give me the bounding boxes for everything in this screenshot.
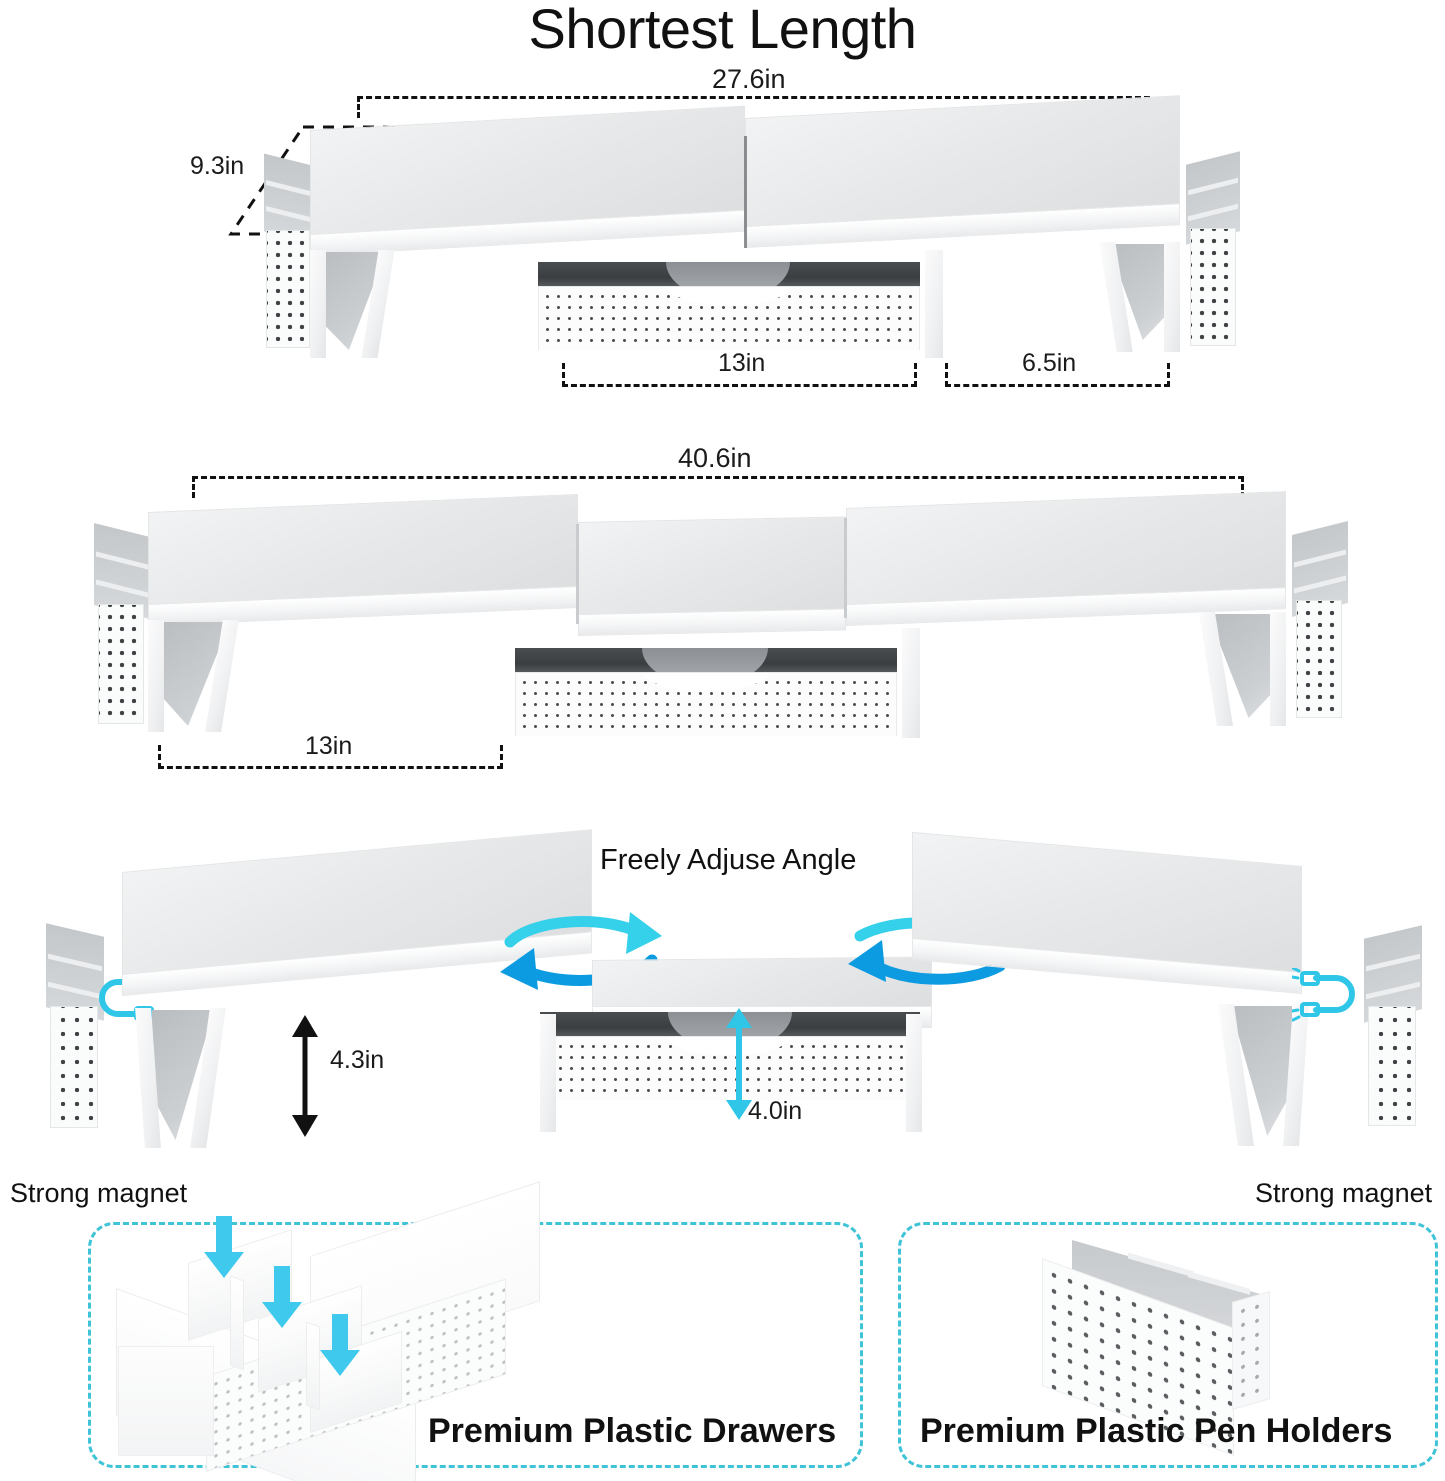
dimension-side-panel-width: 6.5in — [1022, 349, 1076, 378]
dimension-stand-height: 4.3in — [330, 1046, 384, 1075]
center-pillar-2 — [902, 628, 920, 738]
leg-right — [1164, 242, 1180, 352]
panel-seam — [744, 136, 747, 248]
page-title: Shortest Length — [0, 0, 1445, 61]
dimension-side-panel-width-2: 13in — [305, 732, 352, 761]
down-arrow-icon-1 — [202, 1216, 246, 1282]
dimension-total-width: 27.6in — [712, 64, 786, 95]
drawer-right-pillar-3 — [906, 1014, 922, 1132]
down-arrow-icon-2 — [260, 1266, 304, 1332]
leg-left — [310, 250, 326, 358]
leg-left-2 — [148, 620, 164, 732]
shelf-edge-center — [578, 608, 846, 636]
drawer-base-2 — [515, 736, 897, 746]
drawer-left-pillar-3 — [540, 1014, 556, 1132]
center-pillar — [925, 250, 943, 358]
dimension-drawer-width: 13in — [718, 349, 765, 378]
dimension-bracket-total-width-extended — [192, 476, 1244, 498]
drawer-front-panel — [538, 286, 920, 352]
panel-seam-right-2 — [844, 518, 847, 618]
pen-holder-right-3 — [1358, 926, 1432, 1128]
callout-label-drawers: Premium Plastic Drawers — [428, 1412, 836, 1451]
pen-holder-right-2 — [1286, 522, 1356, 718]
adjust-angle-heading: Freely Adjuse Angle — [600, 844, 856, 877]
organizer-divider-vertical-1 — [230, 1275, 244, 1370]
pen-holder-side-face — [1232, 1291, 1270, 1410]
shelf-top-center — [578, 516, 846, 618]
drawer-front-panel-2 — [515, 672, 897, 738]
panel-seam-left-2 — [576, 524, 579, 624]
dimension-drawer-height: 4.0in — [748, 1097, 802, 1126]
pen-holder-illustration — [1020, 1232, 1300, 1432]
strong-magnet-label-left: Strong magnet — [10, 1178, 187, 1209]
pen-holder-right — [1180, 152, 1250, 347]
leg-right-2 — [1270, 612, 1286, 726]
dimension-total-width-extended: 40.6in — [678, 443, 752, 474]
callout-label-pen-holders: Premium Plastic Pen Holders — [920, 1412, 1392, 1451]
infographic-page: Shortest Length 27.6in 9.3in — [0, 0, 1445, 1481]
dimension-depth: 9.3in — [190, 152, 244, 181]
strong-magnet-label-right: Strong magnet — [1255, 1178, 1432, 1209]
horseshoe-magnet-icon-right — [1292, 968, 1362, 1028]
organizer-left-side — [118, 1346, 214, 1456]
dimension-arrow-stand-height — [288, 1015, 322, 1137]
down-arrow-icon-3 — [318, 1314, 362, 1380]
